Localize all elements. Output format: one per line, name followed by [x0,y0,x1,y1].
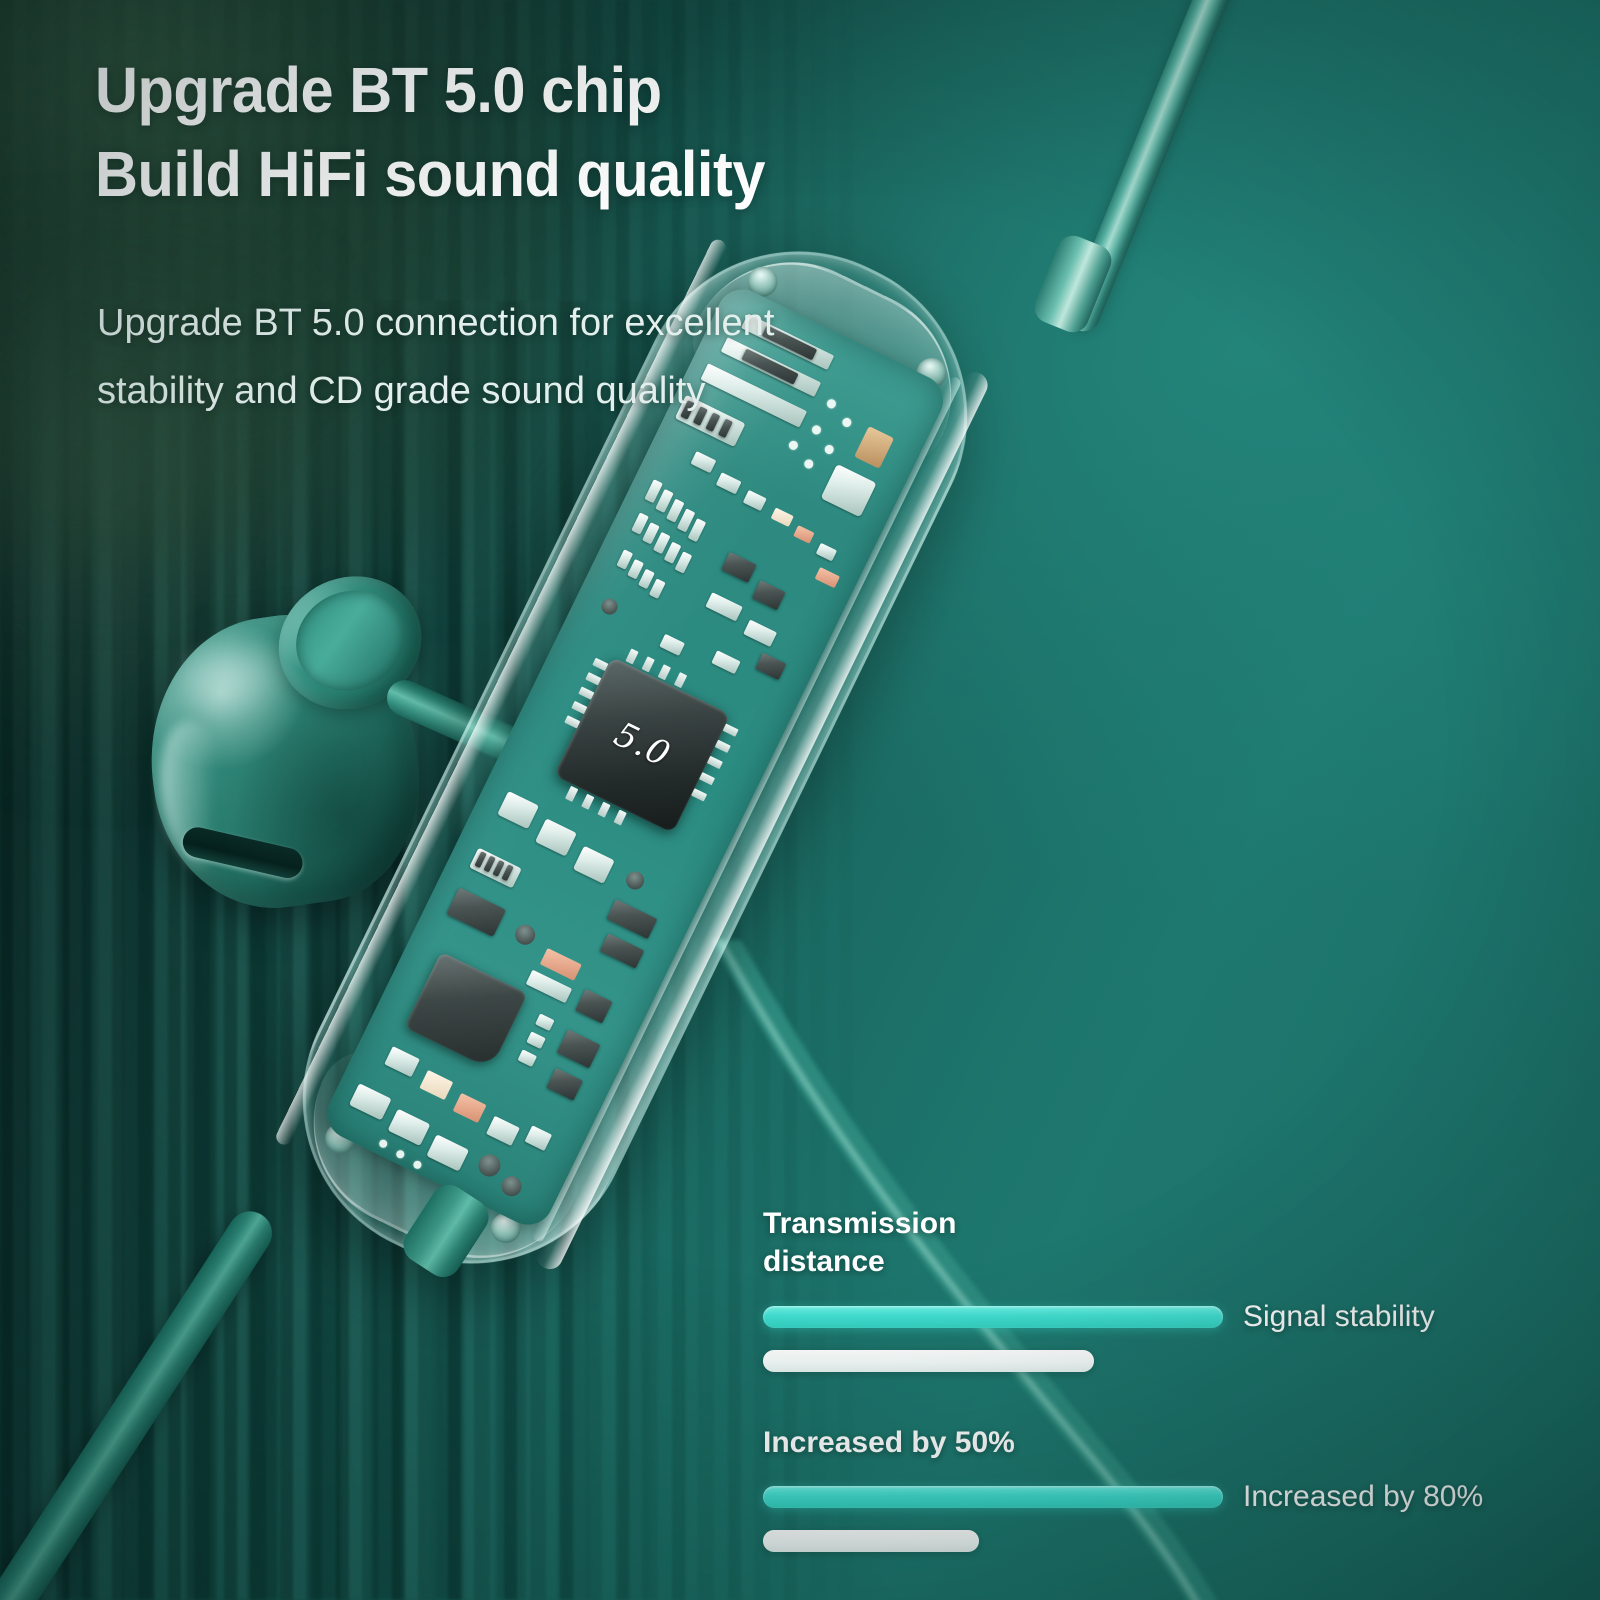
stat-side-label: Signal stability [1243,1300,1435,1334]
headline-line-1: Upgrade BT 5.0 chip [95,54,662,126]
progress-bar-primary [763,1306,1223,1328]
stat-secondary-bar-row [763,1350,1523,1372]
stat-title: Increased by 50% [763,1424,1523,1462]
stat-group-transmission: Transmission distance Signal stability [763,1205,1523,1372]
stat-secondary-bar-row [763,1530,1523,1552]
stats-panel: Transmission distance Signal stability I… [763,1205,1523,1600]
page-title: Upgrade BT 5.0 chip Build HiFi sound qua… [95,48,960,217]
headline-line-2: Build HiFi sound quality [95,132,960,216]
progress-bar-secondary [763,1350,1094,1372]
stat-title: Transmission distance [763,1205,1523,1282]
stat-group-increase: Increased by 50% Increased by 80% [763,1424,1523,1552]
stat-primary-bar-row: Increased by 80% [763,1480,1523,1514]
subtitle-paragraph: Upgrade BT 5.0 connection for excellent … [97,290,817,425]
product-feature-banner: 5.0 [0,0,1600,1600]
stat-side-label: Increased by 80% [1243,1480,1483,1514]
stat-primary-bar-row: Signal stability [763,1300,1523,1334]
progress-bar-secondary [763,1530,979,1552]
chip-version-label: 5.0 [608,714,677,775]
progress-bar-primary [763,1486,1223,1508]
